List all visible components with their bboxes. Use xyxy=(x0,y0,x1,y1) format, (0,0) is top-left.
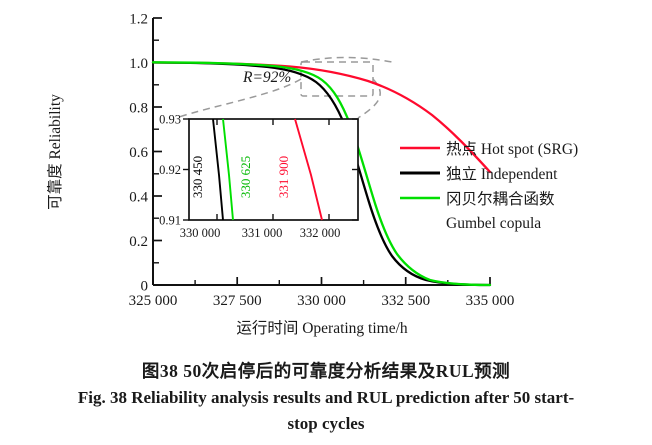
inset-left-ticks xyxy=(183,119,189,220)
legend-label-independent: 独立 Independent xyxy=(446,165,558,183)
y-tick-label: 0.4 xyxy=(129,190,148,206)
legend: 热点 Hot spot (SRG) 独立 Independent 冈贝尔耦合函数… xyxy=(400,140,578,232)
inset-y-tick-label: 0.91 xyxy=(159,214,181,228)
y-tick-label: 0.8 xyxy=(129,101,148,117)
x-tick-label: 335 000 xyxy=(466,293,515,309)
y-axis-title: 可靠度 Reliability xyxy=(46,94,64,210)
legend-label-hot-spot: 热点 Hot spot (SRG) xyxy=(446,140,578,158)
y-tick-label: 1.2 xyxy=(129,12,148,28)
reliability-chart: 1.2 1.0 0.8 0.6 0.4 0.2 0 325 000 327 50… xyxy=(0,0,652,360)
r-value-annotation: R=92% xyxy=(242,69,291,86)
inset-value-hot-spot: 331 900 xyxy=(276,156,291,198)
inset-y-tick-label: 0.92 xyxy=(159,163,181,177)
caption-chinese: 图38 50次启停后的可靠度分析结果及RUL预测 xyxy=(0,358,652,385)
legend-label-gumbel-copula-en: Gumbel copula xyxy=(446,215,541,232)
legend-item-hot-spot[interactable]: 热点 Hot spot (SRG) xyxy=(400,140,578,158)
x-tick-label: 330 000 xyxy=(297,293,346,309)
y-axis-major-ticks xyxy=(153,18,162,285)
x-axis-tick-labels: 325 000 327 500 330 000 332 500 335 000 xyxy=(129,293,515,309)
inset-x-tick-label: 331 000 xyxy=(242,226,283,240)
figure-caption: 图38 50次启停后的可靠度分析结果及RUL预测 Fig. 38 Reliabi… xyxy=(0,358,652,436)
inset-plot: 0.93 0.92 0.91 330 000 331 000 332 000 3… xyxy=(159,113,358,241)
figure-root: 1.2 1.0 0.8 0.6 0.4 0.2 0 325 000 327 50… xyxy=(0,0,652,445)
x-tick-label: 325 000 xyxy=(129,293,178,309)
x-tick-label: 327 500 xyxy=(213,293,262,309)
caption-english-line2: stop cycles xyxy=(0,411,652,437)
legend-item-gumbel[interactable]: 冈贝尔耦合函数 xyxy=(400,190,555,208)
x-tick-label: 332 500 xyxy=(381,293,430,309)
caption-english-line1: Fig. 38 Reliability analysis results and… xyxy=(0,385,652,411)
legend-label-gumbel: 冈贝尔耦合函数 xyxy=(446,190,555,208)
y-tick-label: 1.0 xyxy=(129,56,148,72)
legend-item-independent[interactable]: 独立 Independent xyxy=(400,165,558,183)
inset-y-tick-label: 0.93 xyxy=(159,113,181,127)
inset-value-independent: 330 450 xyxy=(190,156,205,198)
y-tick-label: 0.2 xyxy=(129,234,148,250)
y-axis-tick-labels: 1.2 1.0 0.8 0.6 0.4 0.2 0 xyxy=(129,12,148,295)
callout-leader-top xyxy=(301,58,392,63)
inset-x-tick-label: 332 000 xyxy=(300,226,341,240)
x-axis-title: 运行时间 Operating time/h xyxy=(236,319,408,337)
inset-x-tick-label: 330 000 xyxy=(180,226,221,240)
y-tick-label: 0.6 xyxy=(129,145,148,161)
inset-value-gumbel: 330 625 xyxy=(238,156,253,198)
